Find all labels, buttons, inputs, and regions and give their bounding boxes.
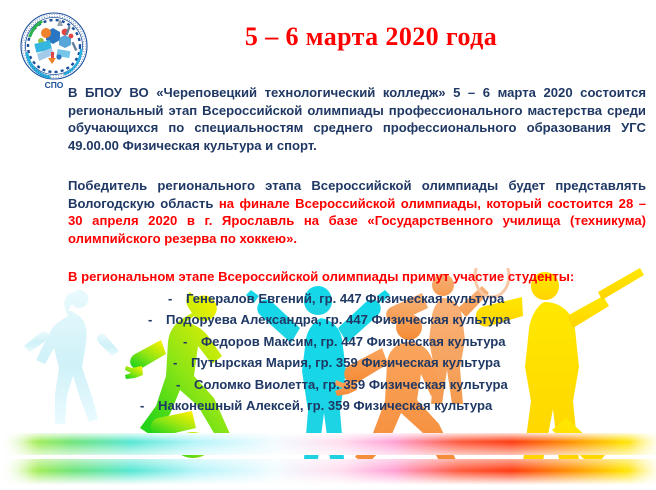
- paragraph-announcement: В БПОУ ВО «Череповецкий технологический …: [68, 84, 646, 154]
- olympiad-emblem-logo: СПО: [13, 8, 95, 92]
- page-title: 5 – 6 марта 2020 года: [96, 22, 646, 52]
- list-item: -Наконешный Алексей, гр. 359 Физическая …: [68, 395, 646, 416]
- paragraph-1-text: В БПОУ ВО «Череповецкий технологический …: [68, 85, 646, 153]
- participants-heading: В региональном этапе Всероссийской олимп…: [68, 268, 646, 286]
- student-name: Путырская Мария, гр. 359 Физическая куль…: [191, 352, 500, 373]
- student-name: Генералов Евгений, гр. 447 Физическая ку…: [186, 288, 504, 309]
- list-item: -Путырская Мария, гр. 359 Физическая кул…: [68, 352, 646, 373]
- student-name: Соломко Виолетта, гр. 359 Физическая кул…: [194, 374, 508, 395]
- list-dash: -: [140, 395, 158, 416]
- list-dash: -: [176, 374, 194, 395]
- list-item: -Генералов Евгений, гр. 447 Физическая к…: [68, 288, 646, 309]
- list-item: -Соломко Виолетта, гр. 359 Физическая ку…: [68, 374, 646, 395]
- paragraph-winner-info: Победитель регионального этапа Всероссий…: [68, 177, 646, 247]
- list-item: -Федоров Максим, гр. 447 Физическая куль…: [68, 331, 646, 352]
- list-dash: -: [148, 309, 166, 330]
- student-name: Федоров Максим, гр. 447 Физическая культ…: [201, 331, 506, 352]
- list-dash: -: [183, 331, 201, 352]
- poster-canvas: СПО 5 – 6 марта 2020 года В БПОУ ВО «Чер…: [0, 0, 656, 490]
- list-dash: -: [173, 352, 191, 373]
- student-name: Наконешный Алексей, гр. 359 Физическая к…: [158, 395, 492, 416]
- poster-content: СПО 5 – 6 марта 2020 года В БПОУ ВО «Чер…: [0, 0, 656, 490]
- list-item: -Подоруева Александра, гр. 447 Физическа…: [68, 309, 646, 330]
- logo-abbreviation: СПО: [45, 80, 64, 90]
- list-dash: -: [168, 288, 186, 309]
- student-name: Подоруева Александра, гр. 447 Физическая…: [166, 309, 510, 330]
- participants-list: -Генералов Евгений, гр. 447 Физическая к…: [68, 288, 646, 416]
